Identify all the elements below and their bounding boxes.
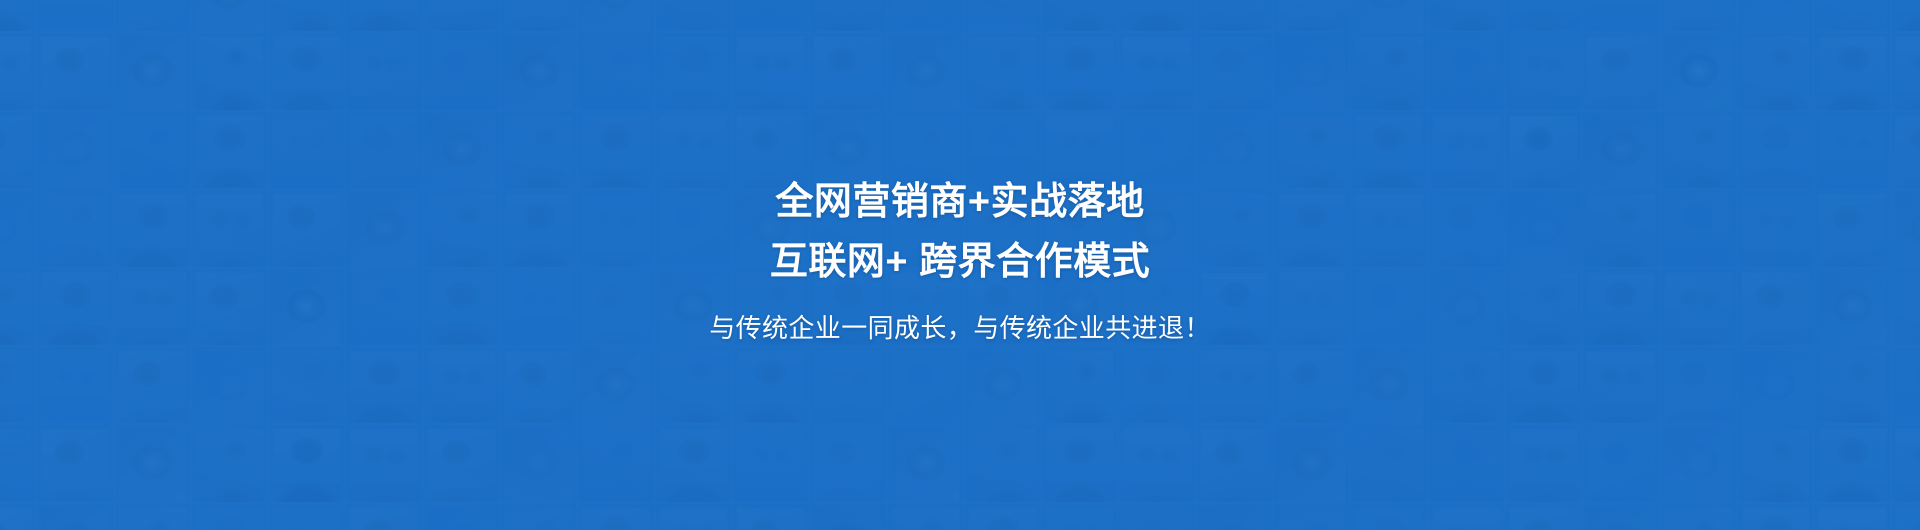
banner-subtitle: 与传统企业一同成长，与传统企业共进退！ [709,315,1211,341]
headline-line-1: 全网营销商+实战落地 [775,183,1144,221]
headline-line-2: 互联网+ 跨界合作模式 [770,243,1150,281]
banner-copy-block: 全网营销商+实战落地 互联网+ 跨界合作模式 与传统企业一同成长，与传统企业共进… [0,0,1920,530]
marketing-hero-banner: 全网营销商+实战落地 互联网+ 跨界合作模式 与传统企业一同成长，与传统企业共进… [0,0,1920,530]
